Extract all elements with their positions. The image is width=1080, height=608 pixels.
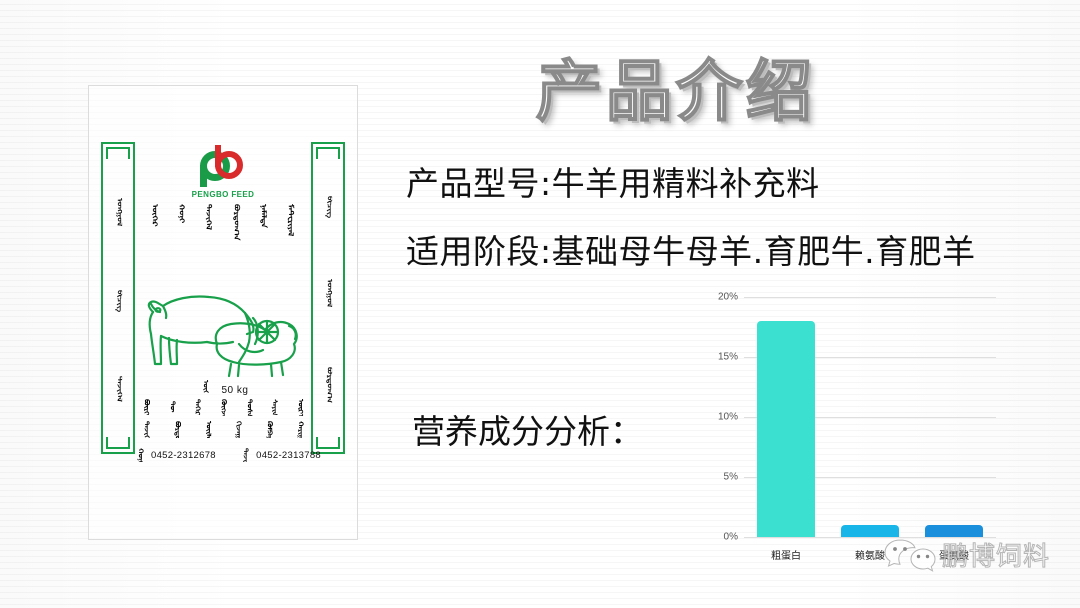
bag-mongolian-headline: ᠦᠬᠡᠷ ᠬᠣᠨᠢ ᠲᠡᠵᠢᠭᠡᠯ ᠪᠣᠷᠳᠣᠭ᠎ᠠ ᠨᠡᠮᠡᠯᠲᠡ ᠮᠠᠲ᠋ᠧ… <box>147 204 299 266</box>
mongolian-text: ᠬᠠᠷᠢᠭᠤᠴᠠᠯᠭ᠎ᠠ <box>294 421 305 438</box>
chart-bar <box>757 321 816 537</box>
bag-ornament-frame-right: ᠪᠢᠴᠢᠭ ᠮᠣᠩᠭᠣᠯ ᠪᠣᠷᠳᠣᠭ᠎ᠠ <box>311 142 345 454</box>
mongolian-text: ᠲᠤᠰᠠ <box>243 399 254 416</box>
nutrition-bar-chart: 0%5%10%15%20%粗蛋白赖氨酸蛋氨酸 <box>706 288 1006 573</box>
bag-mongolian-line-2: ᠲᠡᠵᠢᠭᠡᠯ ᠪᠣᠷᠳᠣᠭ᠎ᠠ ᠦᠢᠯᠡᠳᠪᠦᠷᠢ ᠬᠢᠵᠠᠭᠠᠷ ᠺᠣᠮᠫᠠ… <box>139 420 307 438</box>
chart-plot-area <box>744 297 996 537</box>
bag-contact-phones: ᠬᠣᠨᠢ 0452-2312678 ᠲᠡᠵᠢᠭᠡᠯ 0452-2313788 <box>133 448 321 462</box>
product-model-line: 产品型号:牛羊用精料补充料 <box>406 157 820 205</box>
chart-y-tick: 5% <box>706 472 738 483</box>
nutrition-analysis-label: 营养成分分析： <box>412 405 643 453</box>
mongolian-text: ᠲᠡᠵᠢᠭᠡᠯ <box>240 448 251 462</box>
mongolian-text: ᠲᠡᠵᠢᠭᠡᠯ <box>203 204 216 230</box>
bag-weight-text: ᠦᠬᠡᠷ 50 kg <box>89 380 357 396</box>
wechat-icon <box>884 538 936 572</box>
bag-ornament-frame-left: ᠮᠣᠩᠭᠣᠯ ᠪᠢᠴᠢᠭ ᠲᠡᠵᠢᠭᠡᠯ <box>101 142 135 454</box>
mongolian-text: ᠬᠣᠨᠢ <box>134 448 145 462</box>
mongolian-text: ᠪᠢᠴᠢᠭ <box>114 290 121 312</box>
mongolian-text: ᠺᠣᠮᠫᠠᠨᠢ <box>264 421 275 438</box>
mongolian-text: ᠦᠢᠯᠡᠳᠪᠦᠷᠢ <box>202 421 213 438</box>
mongolian-text: ᠬᠥᠭᠵᠢᠯ <box>217 399 228 416</box>
phone-2: ᠲᠡᠵᠢᠭᠡᠯ 0452-2313788 <box>238 448 321 462</box>
mongolian-text: ᠲᠡᠵᠢᠭᠡᠯ <box>140 421 151 438</box>
mongolian-text: ᠪᠢᠴᠢᠭ <box>324 196 331 218</box>
brand-name: PENGBO FEED <box>188 190 258 199</box>
phone-1-number: 0452-2312678 <box>151 450 216 461</box>
mongolian-text: ᠨᠡᠮᠡᠯᠲᠡ <box>257 204 270 228</box>
mongolian-text: ᠲᠦ <box>166 401 177 412</box>
chart-gridline <box>744 297 996 298</box>
chart-y-tick: 15% <box>706 352 738 363</box>
mongolian-text: ᠮᠠᠲ᠋ᠧᠷᠢᠶᠠᠯ <box>285 204 298 236</box>
mongolian-text: ᠮᠣᠩᠭᠣᠯ <box>324 279 331 307</box>
wechat-watermark: 鹏博饲料 <box>884 536 1050 573</box>
feed-bag-image: ᠮᠣᠩᠭᠣᠯ ᠪᠢᠴᠢᠭ ᠲᠡᠵᠢᠭᠡᠯ ᠪᠢᠴᠢᠭ ᠮᠣᠩᠭᠣᠯ ᠪᠣᠷᠳᠣᠭ… <box>88 85 358 540</box>
phone-1: ᠬᠣᠨᠢ 0452-2312678 <box>133 448 216 462</box>
cow-and-sheep-icon <box>139 282 311 378</box>
mongolian-text: ᠪᠣᠷᠳᠣᠭ᠎ᠠ <box>171 421 182 438</box>
phone-2-number: 0452-2313788 <box>256 450 321 461</box>
mongolian-text: ᠬᠣᠨᠢ <box>176 204 189 223</box>
logo-p-stem <box>200 165 207 187</box>
product-stage-line: 适用阶段:基础母牛母羊.育肥牛.育肥羊 <box>406 225 976 273</box>
chart-y-tick: 0% <box>706 532 738 543</box>
watermark-text: 鹏博饲料 <box>942 536 1050 573</box>
mongolian-text: ᠬᠢᠵᠠᠭᠠᠷ <box>233 421 244 438</box>
slide-canvas: ᠮᠣᠩᠭᠣᠯ ᠪᠢᠴᠢᠭ ᠲᠡᠵᠢᠭᠡᠯ ᠪᠢᠴᠢᠭ ᠮᠣᠩᠭᠣᠯ ᠪᠣᠷᠳᠣᠭ… <box>0 0 1080 608</box>
page-title: 产品介绍 <box>536 38 816 134</box>
mongolian-text: ᠪᠦᠷᠢ <box>140 399 151 416</box>
mongolian-text: ᠰᠠᠶᠢᠨ <box>269 399 280 416</box>
chart-x-label: 粗蛋白 <box>744 547 828 562</box>
chart-y-tick: 10% <box>706 412 738 423</box>
mongolian-text: ᠮᠣᠩᠭᠣᠯ <box>114 198 121 226</box>
mongolian-text: ᠦᠷ᠎ᠡ <box>294 399 305 416</box>
mongolian-text: ᠪᠣᠷᠳᠣᠭ᠎ᠠ <box>230 204 243 241</box>
logo-mark-icon <box>200 149 246 189</box>
pengbo-logo: PENGBO FEED <box>188 149 258 199</box>
mongolian-text: ᠳᠡᠭᠡᠷ <box>192 399 203 416</box>
bag-mongolian-line-1: ᠪᠦᠷᠢ ᠲᠦ ᠳᠡᠭᠡᠷ ᠬᠥᠭᠵᠢᠯ ᠲᠤᠰᠠ ᠰᠠᠶᠢᠨ ᠦᠷ᠎ᠡ <box>139 398 307 416</box>
chart-y-tick: 20% <box>706 292 738 303</box>
mongolian-text: ᠦᠬᠡᠷ <box>149 204 162 227</box>
logo-b-circle <box>215 151 243 179</box>
weight-value: 50 kg <box>221 385 248 396</box>
mongolian-text: ᠦᠬᠡᠷ <box>199 380 210 393</box>
